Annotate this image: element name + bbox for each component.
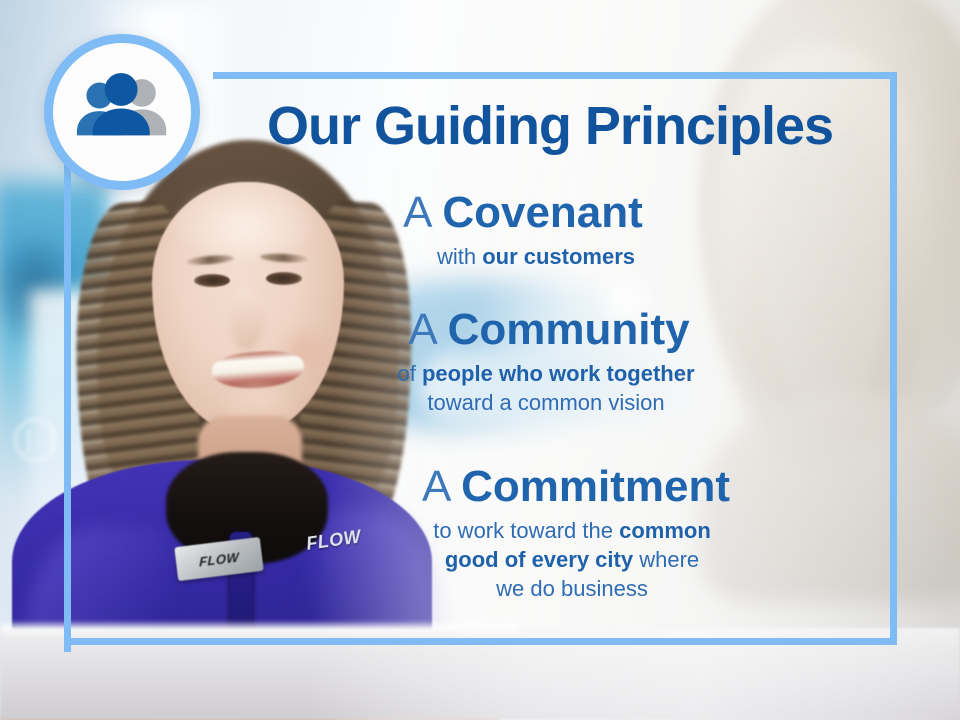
principle-heading: A Covenant	[200, 190, 900, 237]
principle-line: with our customers	[200, 242, 900, 271]
principle-keyword: Community	[448, 305, 690, 354]
principle-article: A	[422, 462, 449, 511]
page-title: Our Guiding Principles	[200, 99, 900, 153]
principle-keyword: Covenant	[442, 188, 642, 237]
people-group-badge	[44, 34, 200, 190]
people-group-icon	[70, 60, 174, 164]
principle-line-strong: common	[619, 518, 711, 543]
principle-covenant: A Covenant with our customers	[200, 190, 900, 271]
principle-keyword: Commitment	[461, 462, 730, 511]
principle-line: good of every city where	[200, 545, 900, 574]
principle-heading: A Community	[200, 307, 900, 354]
principle-line: to work toward the common	[200, 516, 900, 545]
principle-line: toward a common vision	[200, 388, 900, 417]
decorative-frame-left	[64, 198, 71, 652]
principle-line-lead: with	[437, 244, 482, 269]
principle-line: we do business	[200, 574, 900, 603]
banner-stage: FLOW FLOW	[0, 0, 960, 720]
principle-heading: A Commitment	[200, 464, 900, 511]
principle-line-strong: people who work together	[422, 361, 695, 386]
principle-line-lead: of	[397, 361, 421, 386]
principle-line-lead: toward a common vision	[427, 390, 664, 415]
principle-article: A	[403, 188, 430, 237]
principle-line-lead: to work toward the	[433, 518, 619, 543]
principle-commitment: A Commitment to work toward the common g…	[200, 464, 900, 603]
principle-line-strong: good of every city	[445, 547, 633, 572]
principle-line: of people who work together	[200, 359, 900, 388]
principle-line-strong: our customers	[482, 244, 635, 269]
principle-community: A Community of people who work together …	[200, 307, 900, 417]
banner-content: Our Guiding Principles A Covenant with o…	[200, 72, 900, 647]
principle-line-tail: where	[633, 547, 699, 572]
principle-article: A	[408, 305, 435, 354]
principle-line-lead: we do business	[496, 576, 648, 601]
